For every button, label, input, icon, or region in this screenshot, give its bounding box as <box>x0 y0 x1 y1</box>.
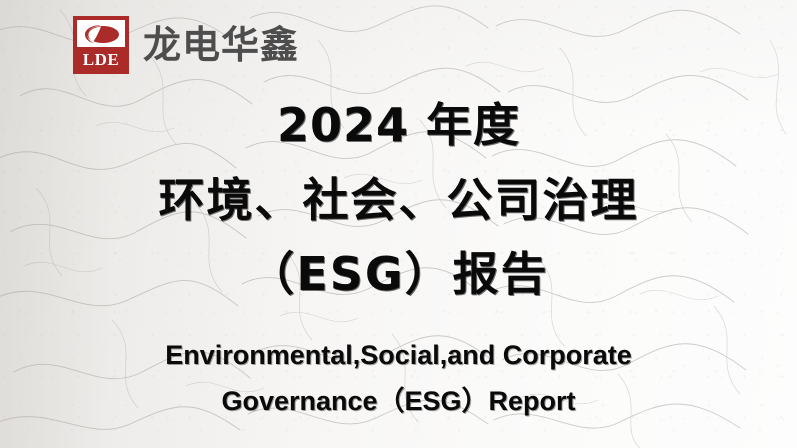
logo-emblem-icon <box>77 20 125 47</box>
lde-logo-mark: LDE <box>73 16 129 74</box>
title-line-topic: 环境、社会、公司治理 <box>0 163 797 238</box>
subtitle-line-1: Environmental,Social,and Corporate <box>0 332 797 378</box>
report-subtitle-group: Environmental,Social,and Corporate Gover… <box>0 332 797 425</box>
company-logo: LDE 龙电华鑫 <box>73 16 299 74</box>
report-cover-page: LDE 龙电华鑫 2024 年度 环境、社会、公司治理 （ESG）报告 Envi… <box>0 0 797 448</box>
logo-abbreviation: LDE <box>83 47 119 74</box>
company-name-cn: 龙电华鑫 <box>143 26 299 64</box>
title-line-esg: （ESG）报告 <box>0 237 797 312</box>
title-line-year: 2024 年度 <box>0 88 797 163</box>
report-title-group: 2024 年度 环境、社会、公司治理 （ESG）报告 <box>0 88 797 312</box>
subtitle-line-2: Governance（ESG）Report <box>0 378 797 424</box>
